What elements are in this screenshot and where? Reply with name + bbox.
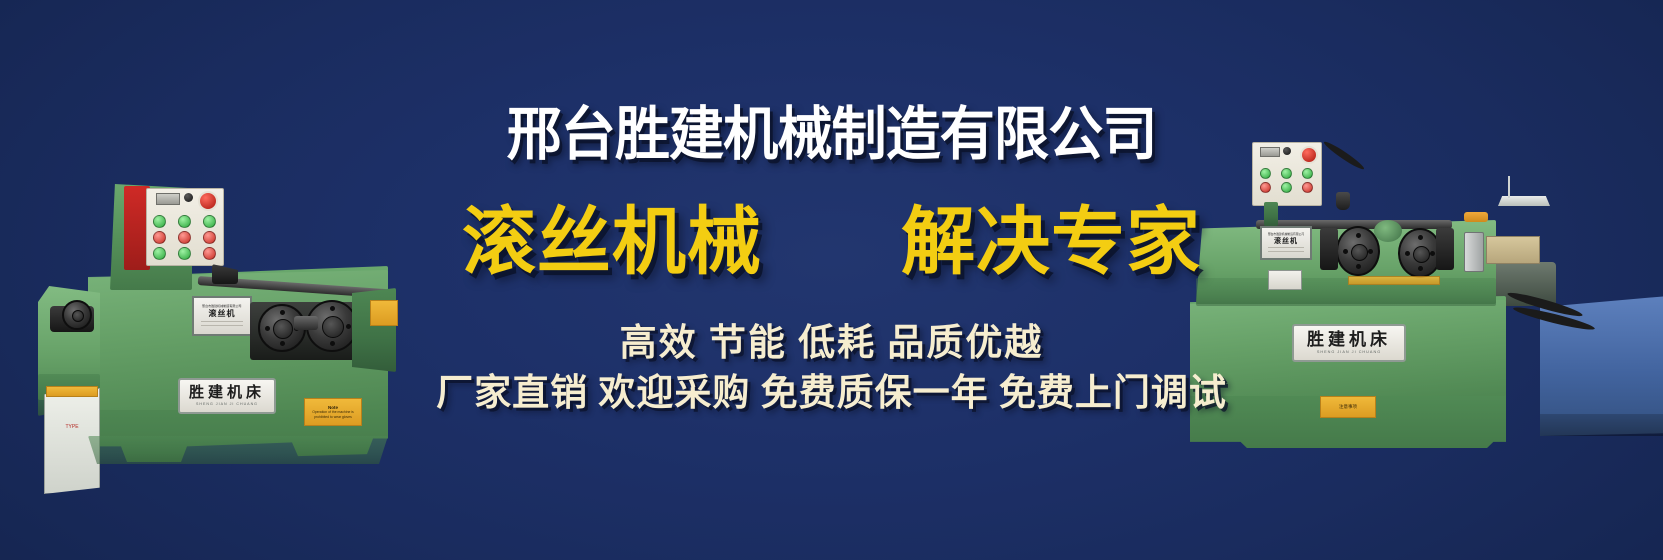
left-machine-top-bracket	[212, 264, 238, 284]
left-spec-plate-model: 滚丝机	[209, 308, 236, 319]
right-machine-manifold-icon	[1464, 212, 1488, 222]
promotional-banner: TYPE 邢台市胜建机械制造有限公司 滚丝机	[0, 0, 1663, 560]
right-brand-plate-cn: 胜建机床	[1307, 331, 1391, 349]
right-machine-silver-block	[1464, 232, 1484, 272]
left-machine-warning-label: Note Operation of the machine is prohibi…	[304, 398, 362, 426]
right-machine-tank-shadow	[1540, 414, 1663, 436]
left-panel-lamp	[153, 215, 166, 228]
left-warning-text: Operation of the machine is prohibited t…	[306, 410, 360, 419]
right-panel-lamp	[1302, 168, 1313, 179]
right-machine-green-wheel	[1374, 220, 1402, 242]
right-panel-lamp	[1260, 182, 1271, 193]
right-machine-slide-block	[1320, 228, 1338, 270]
right-machine-cable-end	[1336, 192, 1350, 210]
left-machine-cabinet-top-label	[46, 386, 98, 397]
right-spec-plate-rows	[1268, 247, 1304, 254]
left-machine-brand-plate: 胜建机床 SHENG JIAN JI CHUANG	[178, 378, 276, 414]
left-machine-cabinet-text: TYPE	[52, 423, 92, 453]
right-warning-text: 注意事项	[1339, 404, 1357, 410]
right-panel-lamp	[1281, 168, 1292, 179]
right-machine-small-plate	[1268, 270, 1302, 290]
right-machine-spec-plate: 邢台市胜建机械制造有限公司 滚丝机	[1260, 226, 1312, 260]
left-panel-knob-icon	[184, 193, 193, 202]
left-panel-lamp	[153, 247, 166, 260]
right-machine-slide-block	[1436, 228, 1454, 270]
left-panel-lamp	[203, 247, 216, 260]
left-panel-display	[156, 193, 180, 205]
left-panel-lamp	[178, 231, 191, 244]
right-machine-panel-cable	[1322, 139, 1366, 172]
right-spec-plate-model: 滚丝机	[1274, 236, 1298, 246]
right-machine-brand-plate: 胜建机床 SHENG JIAN JI CHUANG	[1292, 324, 1406, 362]
right-machine-photo: 邢台市胜建机械制造有限公司 滚丝机	[1168, 118, 1663, 448]
right-panel-knob-icon	[1283, 147, 1291, 155]
left-panel-lamp	[178, 247, 191, 260]
right-machine-warning-label: 注意事项	[1320, 396, 1376, 418]
left-machine-spec-plate: 邢台市胜建机械制造有限公司 滚丝机	[192, 296, 252, 336]
left-machine-photo: TYPE 邢台市胜建机械制造有限公司 滚丝机	[26, 88, 396, 468]
right-machine-work-shelf	[1348, 276, 1440, 285]
left-panel-lamp	[178, 215, 191, 228]
left-cabinet-type-text: TYPE	[65, 424, 78, 430]
right-panel-display	[1260, 147, 1280, 157]
right-machine-name-plate	[1486, 236, 1540, 264]
left-brand-plate-en: SHENG JIAN JI CHUANG	[196, 401, 258, 407]
right-brand-plate-en: SHENG JIAN JI CHUANG	[1317, 349, 1381, 355]
headline-right: 解决专家	[901, 200, 1201, 283]
left-machine-right-label	[370, 300, 398, 326]
right-machine-top-tray	[1498, 196, 1550, 206]
right-panel-lamp	[1260, 168, 1271, 179]
right-panel-lamp	[1302, 182, 1313, 193]
right-machine-antenna-icon	[1508, 176, 1510, 198]
left-machine-base-shadow	[88, 436, 388, 464]
headline-left: 滚丝机械	[462, 200, 762, 283]
left-panel-lamp	[203, 215, 216, 228]
left-panel-emergency-stop-icon	[198, 191, 218, 211]
right-panel-stand	[1264, 202, 1278, 226]
left-brand-plate-cn: 胜建机床	[189, 385, 265, 401]
left-spec-plate-title: 邢台市胜建机械制造有限公司	[202, 303, 241, 308]
left-panel-lamp	[203, 231, 216, 244]
right-panel-emergency-stop-icon	[1300, 146, 1318, 164]
left-spec-plate-rows	[201, 321, 243, 329]
left-machine-end-roller	[62, 300, 92, 330]
right-machine-bed-shadow	[1196, 278, 1496, 306]
right-panel-lamp	[1281, 182, 1292, 193]
left-machine-mid-shaft	[294, 316, 318, 330]
left-panel-lamp	[153, 231, 166, 244]
